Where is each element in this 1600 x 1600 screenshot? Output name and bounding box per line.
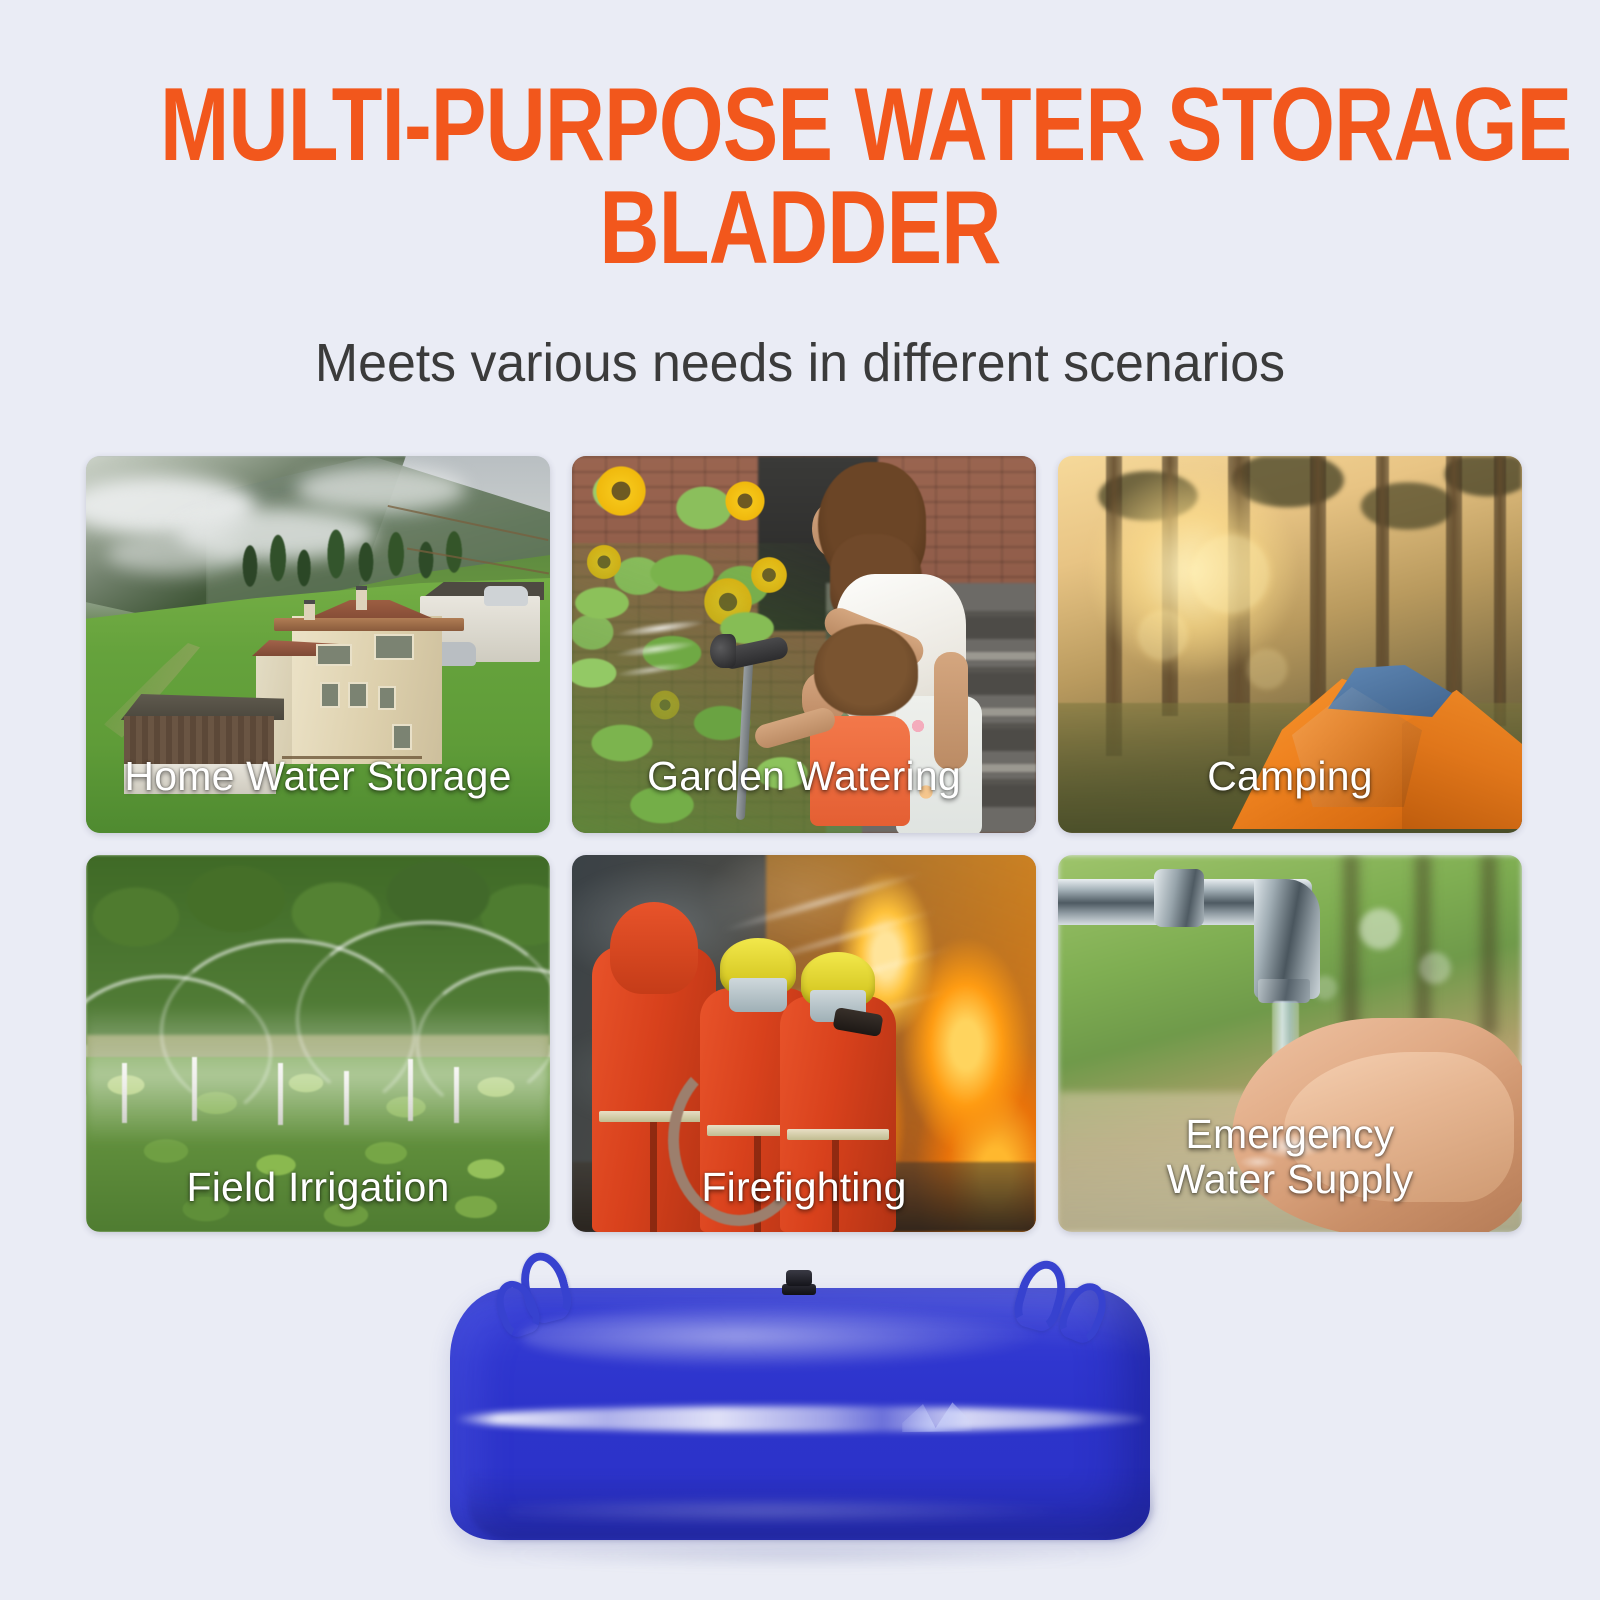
scenario-label-field-irrigation: Field Irrigation: [86, 1165, 550, 1210]
product-image-water-storage-bladder: [438, 1240, 1160, 1560]
bladder-bottom-shading: [468, 1470, 1154, 1540]
bladder-top-highlight: [520, 1304, 1040, 1368]
scenario-tile-garden-watering[interactable]: Garden Watering: [572, 456, 1036, 833]
scenario-label-firefighting: Firefighting: [572, 1165, 1036, 1210]
scenario-tile-camping[interactable]: Camping: [1058, 456, 1522, 833]
page-subtitle: Meets various needs in different scenari…: [32, 334, 1568, 392]
page-title: MULTI-PURPOSE WATER STORAGE BLADDER: [0, 74, 1600, 280]
bladder-valve-icon: [782, 1270, 816, 1296]
scenario-label-camping: Camping: [1058, 754, 1522, 799]
scenario-tile-emergency-water-supply[interactable]: Emergency Water Supply: [1058, 855, 1522, 1232]
bladder-specular-band: [456, 1406, 1144, 1432]
scenario-tile-field-irrigation[interactable]: Field Irrigation: [86, 855, 550, 1232]
scenario-label-home-water-storage: Home Water Storage: [86, 754, 550, 799]
scenario-label-garden-watering: Garden Watering: [572, 754, 1036, 799]
scenario-grid: Home Water Storage: [86, 456, 1514, 1232]
scenario-tile-firefighting[interactable]: Firefighting: [572, 855, 1036, 1232]
product-shadow: [498, 1544, 1102, 1566]
scenario-tile-home-water-storage[interactable]: Home Water Storage: [86, 456, 550, 833]
scenario-label-emergency-water-supply: Emergency Water Supply: [1058, 1112, 1522, 1202]
page-title-line-2: BLADDER: [160, 177, 1440, 280]
page-title-line-1: MULTI-PURPOSE WATER STORAGE: [160, 74, 1440, 177]
